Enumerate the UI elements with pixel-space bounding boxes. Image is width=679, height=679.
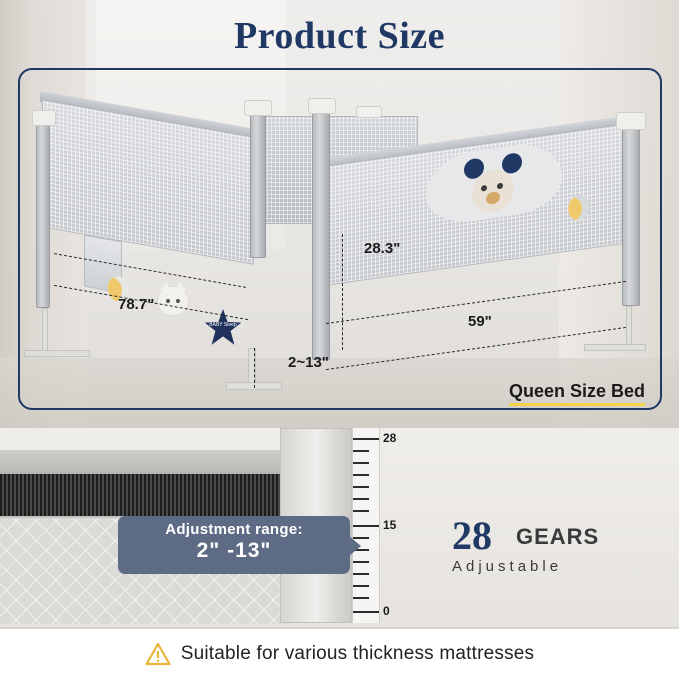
gears-sublabel: Adjustable bbox=[452, 558, 562, 575]
rail-post-left-front bbox=[36, 120, 50, 308]
ruler-tick bbox=[353, 597, 369, 599]
adjustment-range-panel: 28 15 0 Adjustment range: 2" -13" 28 GEA… bbox=[0, 428, 679, 629]
gears-label: GEARS bbox=[516, 524, 599, 550]
dim-label-adjust: 2~13" bbox=[288, 354, 329, 371]
dim-line-height bbox=[342, 234, 343, 350]
cat-eye-right-icon bbox=[176, 299, 180, 303]
callout-arrow-icon bbox=[349, 536, 361, 556]
ruler-tick bbox=[353, 498, 369, 500]
ruler-tick bbox=[353, 450, 369, 452]
ruler-tick bbox=[353, 474, 369, 476]
gears-count: 28 bbox=[452, 512, 492, 559]
dim-line-adjust bbox=[254, 348, 255, 388]
cat-eye-left-icon bbox=[166, 299, 170, 303]
callout-title: Adjustment range: bbox=[118, 521, 350, 538]
dim-label-height: 28.3" bbox=[364, 240, 400, 257]
product-size-panel: Product Size bbox=[0, 0, 679, 428]
warning-icon bbox=[145, 642, 171, 666]
ruler-tick bbox=[353, 510, 369, 512]
ruler-label-top: 28 bbox=[383, 431, 396, 445]
ruler-label-bottom: 0 bbox=[383, 604, 390, 618]
rail-cap-right bbox=[616, 112, 646, 130]
rail-cap-back bbox=[356, 106, 382, 118]
rail-cap-corner bbox=[244, 100, 272, 116]
mattress-top-edge bbox=[0, 450, 300, 474]
dim-line-width-2 bbox=[326, 327, 626, 370]
rail-cap-center bbox=[308, 98, 336, 114]
ruler-tick bbox=[353, 486, 369, 488]
cat-ear-right-icon bbox=[174, 282, 186, 291]
callout-value: 2" -13" bbox=[118, 539, 350, 563]
rail-cap-left bbox=[32, 110, 56, 126]
rail-post-corner-left bbox=[250, 110, 266, 258]
cat-decoration-icon bbox=[157, 286, 189, 316]
ruler-tick-major-15 bbox=[353, 525, 379, 527]
ruler-tick-major-28 bbox=[353, 438, 379, 440]
rail-leg-right-foot bbox=[584, 344, 646, 351]
bed-rail-illustration: BABY Sleep bbox=[26, 86, 656, 386]
ruler-tick-major-0 bbox=[353, 611, 379, 613]
bear-face-icon bbox=[464, 152, 522, 226]
ruler-tick bbox=[353, 573, 369, 575]
ruler-tick bbox=[353, 561, 369, 563]
ruler-tick bbox=[353, 462, 369, 464]
dim-label-length: 78.7" bbox=[118, 296, 154, 313]
adjustment-range-callout: Adjustment range: 2" -13" bbox=[118, 516, 350, 574]
dim-label-width: 59" bbox=[468, 313, 492, 330]
page-title: Product Size bbox=[0, 14, 679, 58]
rail-post-right bbox=[622, 122, 640, 306]
cat-ear-left-icon bbox=[160, 282, 172, 291]
rail-leg-left-upright bbox=[42, 308, 48, 352]
footer-note: Suitable for various thickness mattresse… bbox=[0, 629, 679, 679]
ruler-tick bbox=[353, 585, 369, 587]
mattress-mesh-layer bbox=[0, 474, 290, 516]
bed-size-label: Queen Size Bed bbox=[509, 381, 645, 406]
height-ruler: 28 15 0 bbox=[352, 428, 380, 623]
footer-text: Suitable for various thickness mattresse… bbox=[181, 643, 535, 665]
rail-leg-left-foot bbox=[24, 350, 90, 357]
ruler-label-mid: 15 bbox=[383, 518, 396, 532]
